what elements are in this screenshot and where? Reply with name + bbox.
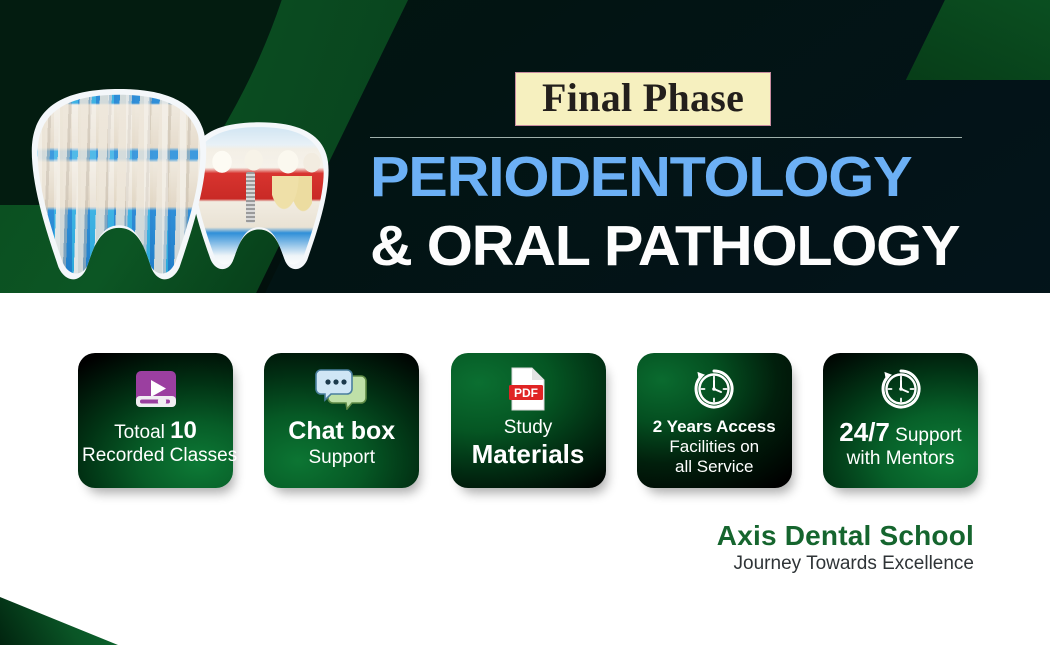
card5-line1-value: 24/7 bbox=[839, 417, 890, 447]
card4-line1: 2 Years Access bbox=[641, 417, 788, 437]
tooth-shape-front bbox=[30, 86, 208, 283]
feature-card-text: 24/7 Support with Mentors bbox=[823, 417, 978, 470]
course-title-line1: PERIODENTOLOGY bbox=[370, 147, 994, 207]
card5-line1-suffix: Support bbox=[890, 425, 962, 446]
brand-logo: Axis Dental School Journey Towards Excel… bbox=[717, 520, 974, 575]
card3-line2: Materials bbox=[455, 439, 602, 470]
tooth-dental-casts-photo bbox=[36, 92, 202, 277]
brand-name: Axis Dental School bbox=[717, 520, 974, 552]
feature-card-text: Study Materials bbox=[451, 417, 606, 470]
card3-line1: Study bbox=[455, 417, 602, 439]
tooth-implant-crosssection-photo bbox=[193, 125, 325, 267]
title-block: Final Phase PERIODENTOLOGY & ORAL PATHOL… bbox=[370, 72, 970, 277]
feature-card-support[interactable]: 24/7 Support with Mentors bbox=[823, 353, 978, 488]
card2-line1: Chat box bbox=[268, 417, 415, 447]
brand-tagline: Journey Towards Excellence bbox=[717, 553, 974, 575]
feature-card-study-materials[interactable]: PDF Study Materials bbox=[451, 353, 606, 488]
course-title-line2: & ORAL PATHOLOGY bbox=[370, 216, 994, 276]
tooth-shape-back bbox=[188, 120, 330, 272]
feature-card-chat-box[interactable]: Chat box Support bbox=[264, 353, 419, 488]
card2-line2: Support bbox=[268, 447, 415, 469]
card4-line3: all Service bbox=[641, 457, 788, 477]
pdf-document-icon: PDF bbox=[508, 365, 548, 413]
feature-card-row: Totoal 10 Recorded Classes Chat box Supp… bbox=[78, 353, 978, 488]
tooth-artwork bbox=[22, 78, 322, 293]
svg-text:PDF: PDF bbox=[514, 386, 538, 400]
feature-card-text: Totoal 10 Recorded Classes bbox=[78, 417, 233, 468]
phase-badge: Final Phase bbox=[515, 72, 771, 126]
card1-line1-count: 10 bbox=[170, 417, 197, 444]
corner-triangle-decoration bbox=[0, 597, 118, 645]
feature-card-two-years-access[interactable]: 2 Years Access Facilities on all Service bbox=[637, 353, 792, 488]
card1-line1-prefix: Totoal bbox=[114, 422, 170, 443]
feature-card-text: Chat box Support bbox=[264, 417, 419, 469]
card5-line2: with Mentors bbox=[827, 448, 974, 470]
clock-icon bbox=[879, 365, 923, 413]
feature-card-recorded-classes[interactable]: Totoal 10 Recorded Classes bbox=[78, 353, 233, 488]
banner-header: Final Phase PERIODENTOLOGY & ORAL PATHOL… bbox=[0, 0, 1050, 293]
card1-line2: Recorded Classes bbox=[82, 445, 229, 467]
feature-card-text: 2 Years Access Facilities on all Service bbox=[637, 417, 792, 477]
chat-bubbles-icon bbox=[313, 365, 371, 413]
clock-icon bbox=[692, 365, 736, 413]
phase-badge-label: Final Phase bbox=[542, 78, 744, 118]
title-divider bbox=[370, 137, 962, 138]
promo-banner: Final Phase PERIODENTOLOGY & ORAL PATHOL… bbox=[0, 0, 1050, 645]
card4-line2: Facilities on bbox=[641, 437, 788, 457]
video-player-icon bbox=[132, 365, 180, 413]
